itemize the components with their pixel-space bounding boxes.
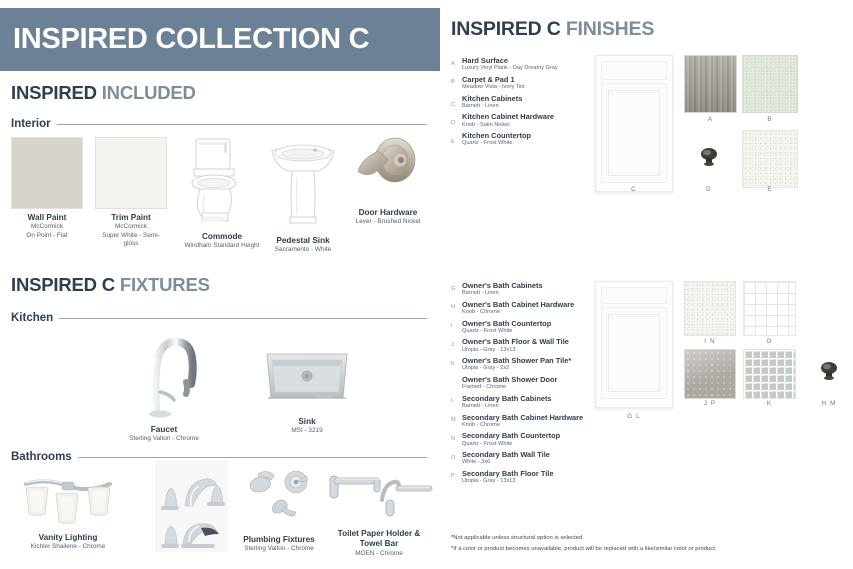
- swatch-bath-quartz-countertop: [684, 281, 736, 336]
- finish-letter: O: [451, 455, 456, 461]
- kitchen-faucet-icon: [120, 326, 208, 418]
- item-name: Door Hardware: [340, 208, 436, 218]
- swatch-kitchen-quartz-countertop: [742, 130, 798, 188]
- interior-subheading: Interior: [11, 118, 427, 130]
- heading-word-2: FINISHES: [566, 18, 654, 40]
- item-spec-1: Kichler Shailene - Chrome: [12, 543, 124, 551]
- finish-letter: A: [451, 61, 455, 67]
- door-panel: [601, 83, 667, 183]
- swatch-label-in: I N: [684, 338, 736, 345]
- item-name: Plumbing Fixtures: [236, 535, 322, 545]
- swatch-bath-cabinet-door: [595, 281, 673, 408]
- interior-item-commode: Commode Windham Standard Height: [178, 133, 266, 251]
- kitchen-sink-icon: [262, 346, 352, 408]
- item-name: Wall Paint: [11, 213, 83, 223]
- finish-letter: J: [451, 342, 454, 348]
- item-spec-1: Lever - Brushed Nickel: [340, 218, 436, 226]
- finish-letter: D: [451, 120, 455, 126]
- footnote-2: *If a color or product becomes unavailab…: [451, 544, 846, 555]
- swatch-luxury-vinyl-plank: [684, 55, 737, 113]
- paint-swatch: [95, 137, 167, 209]
- swatch-label-b: B: [742, 116, 798, 123]
- interior-item-trim-paint: Trim Paint McCormick Super White - Semi-…: [95, 137, 167, 248]
- heading-word-1: INSPIRED: [11, 82, 97, 103]
- finish-letter: N: [451, 436, 455, 442]
- finish-row: N Secondary Bath Countertop Quartz - Fro…: [451, 431, 626, 448]
- item-name: Trim Paint: [95, 213, 167, 223]
- finish-letter: C: [451, 102, 455, 108]
- swatch-mosaic-shower-pan-tile: [743, 349, 796, 399]
- item-spec-1: McCormick: [95, 223, 167, 231]
- finish-letter: B: [451, 79, 455, 85]
- item-spec-1: MSI - 3219: [262, 427, 352, 435]
- swatch-label-gl: G L: [595, 413, 673, 420]
- item-spec-1: McCormick: [11, 223, 83, 231]
- item-name: Vanity Lighting: [12, 533, 124, 543]
- interior-item-door-hardware: Door Hardware Lever - Brushed Nickel: [340, 133, 436, 227]
- interior-item-pedestal-sink: Pedestal Sink Sacramento - White: [262, 133, 344, 255]
- kitchen-item-sink: Sink MSI - 3219: [262, 346, 352, 436]
- kitchen-item-faucet: Faucet Sterling Valton - Chrome: [120, 326, 208, 444]
- item-name: Commode: [178, 232, 266, 242]
- bath-item-lav-faucets: [155, 460, 228, 557]
- swatch-label-jp: J P: [684, 400, 736, 407]
- finish-letter: I: [451, 323, 453, 329]
- finish-spec: White - 3x6: [462, 459, 626, 467]
- bathrooms-label: Bathrooms: [11, 451, 78, 463]
- interior-label: Interior: [11, 118, 57, 130]
- finish-letter: G: [451, 286, 456, 292]
- finish-title: Secondary Bath Wall Tile: [462, 450, 626, 459]
- swatch-label-o: O: [743, 338, 796, 345]
- footnotes: *Not applicable unless structural option…: [451, 533, 846, 555]
- finish-spec: Quartz - Frost White: [462, 441, 626, 449]
- swatch-kitchen-cabinet-door: [595, 55, 673, 192]
- item-name: Toilet Paper Holder &: [322, 529, 436, 539]
- bath-item-towel-bar: Toilet Paper Holder & Towel Bar MOEN - C…: [322, 466, 436, 558]
- finish-letter: K: [451, 361, 455, 367]
- finish-letter: M: [451, 417, 456, 423]
- swatch-bath-knob-chrome: [818, 361, 840, 386]
- divider-rule: [59, 318, 427, 319]
- swatch-label-k: K: [743, 400, 796, 407]
- finish-title: Secondary Bath Countertop: [462, 431, 626, 440]
- vanity-light-icon: [12, 470, 124, 526]
- swatch-gray-floor-tile: [684, 349, 736, 399]
- finish-title: Secondary Bath Floor Tile: [462, 469, 626, 478]
- swatch-label-hm: H M: [808, 400, 850, 407]
- finish-letter: H: [451, 304, 455, 310]
- pedestal-sink-icon: [262, 133, 344, 229]
- heading-word-1: INSPIRED C: [451, 18, 561, 40]
- item-spec-2: Super White - Semi-gloss: [95, 232, 167, 249]
- item-name: Faucet: [120, 425, 208, 435]
- door-panel-inner: [608, 90, 660, 176]
- item-spec-2: On Point - Flat: [11, 232, 83, 240]
- swatch-label-c: C: [595, 186, 673, 193]
- left-column: INSPIRED COLLECTION C INSPIRED INCLUDED …: [0, 0, 440, 569]
- door-panel-inner: [608, 314, 660, 392]
- heading-word-2: INCLUDED: [102, 82, 196, 103]
- cabinet-knob-icon: [818, 361, 840, 381]
- swatch-label-d: D: [688, 186, 730, 193]
- toilet-icon: [178, 133, 266, 225]
- item-spec-1: Windham Standard Height: [178, 242, 266, 250]
- item-spec-2: MOEN - Chrome: [322, 550, 436, 558]
- finish-row: O Secondary Bath Wall Tile White - 3x6: [451, 450, 626, 467]
- lav-faucet-icon: [155, 460, 228, 552]
- swatch-label-e: E: [742, 186, 798, 193]
- swatch-carpet: [742, 55, 798, 113]
- collection-title-band: INSPIRED COLLECTION C: [0, 8, 440, 71]
- page-title: INSPIRED COLLECTION C: [0, 23, 369, 56]
- finishes-heading: INSPIRED C FINISHES: [451, 18, 654, 41]
- door-panel: [601, 307, 667, 399]
- door-drawer-front: [601, 61, 667, 80]
- finish-letter: P: [451, 473, 455, 479]
- item-name-line2: Towel Bar: [322, 539, 436, 549]
- cabinet-knob-icon: [698, 147, 720, 167]
- swatch-label-a: A: [684, 116, 737, 123]
- heading-word-2: FIXTURES: [120, 274, 210, 295]
- divider-rule: [78, 457, 427, 458]
- swatch-cabinet-knob-satin-nickel: [698, 147, 720, 172]
- paint-swatch: [11, 137, 83, 209]
- heading-word-1: INSPIRED C: [11, 274, 115, 295]
- door-lever-icon: [340, 133, 436, 199]
- item-spec-1: Sterling Valton - Chrome: [236, 545, 322, 553]
- inspired-fixtures-heading: INSPIRED C FIXTURES: [11, 274, 210, 296]
- kitchen-subheading: Kitchen: [11, 312, 427, 324]
- finish-spec: Utopia - Gray - 13x13: [462, 478, 626, 486]
- item-spec-1: Sacramento - White: [262, 246, 344, 254]
- finish-spec: Knob - Chrome: [462, 422, 626, 430]
- shower-trim-icon: [236, 466, 322, 526]
- swatch-white-subway-tile: [743, 281, 796, 336]
- item-spec-1: Sterling Valton - Chrome: [120, 435, 208, 443]
- finish-row: P Secondary Bath Floor Tile Utopia - Gra…: [451, 469, 626, 486]
- bath-item-plumbing-fixtures: Plumbing Fixtures Sterling Valton - Chro…: [236, 466, 322, 554]
- finishes-board: INSPIRED COLLECTION C INSPIRED INCLUDED …: [0, 0, 853, 569]
- kitchen-label: Kitchen: [11, 312, 59, 324]
- footnote-1: *Not applicable unless structural option…: [451, 533, 846, 544]
- finish-letter: E: [451, 139, 455, 145]
- item-name: Sink: [262, 417, 352, 427]
- door-drawer-front: [601, 287, 667, 304]
- divider-rule: [57, 124, 427, 125]
- finish-letter: L: [451, 398, 454, 404]
- towel-bar-icon: [322, 466, 436, 522]
- bath-item-vanity-lighting: Vanity Lighting Kichler Shailene - Chrom…: [12, 470, 124, 552]
- right-column: INSPIRED C FINISHES A Hard Surface Luxur…: [440, 0, 853, 569]
- interior-item-wall-paint: Wall Paint McCormick On Point - Flat: [11, 137, 83, 240]
- item-name: Pedestal Sink: [262, 236, 344, 246]
- inspired-included-heading: INSPIRED INCLUDED: [11, 82, 196, 104]
